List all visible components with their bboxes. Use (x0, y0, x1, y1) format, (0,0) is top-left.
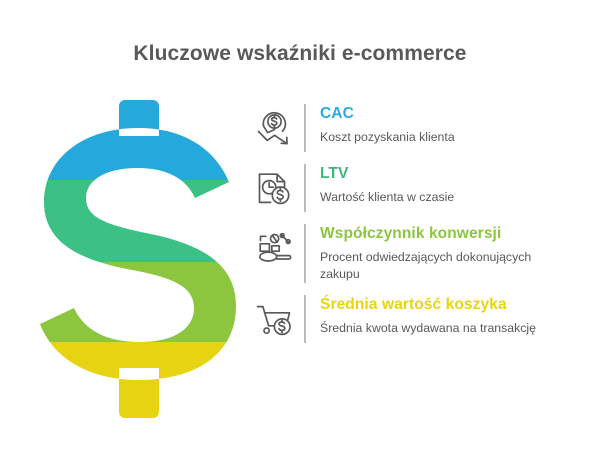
metric-item-cac[interactable]: CAC Koszt pozyskania klienta (252, 104, 582, 152)
metric-item-ltv[interactable]: LTV Wartość klienta w czasie (252, 164, 582, 212)
metric-description: Procent odwiedzających dokonujących zaku… (320, 249, 560, 283)
dollar-band-basket (36, 342, 242, 432)
metric-text: LTV Wartość klienta w czasie (320, 164, 582, 206)
metric-divider (304, 164, 306, 212)
metric-item-conversion-rate[interactable]: Współczynnik konwersji Procent odwiedzaj… (252, 224, 582, 283)
dollar-down-arrow-icon (252, 104, 298, 152)
metric-divider (304, 224, 306, 283)
dollar-band-ltv (36, 180, 242, 262)
metrics-list: CAC Koszt pozyskania klienta (252, 104, 582, 343)
metric-description: Średnia kwota wydawana na transakcję (320, 320, 560, 337)
dollar-bands (36, 92, 242, 432)
metric-label: CAC (320, 105, 582, 122)
metric-text: Średnia wartość koszyka Średnia kwota wy… (320, 295, 582, 337)
dollar-band-conversion (36, 262, 242, 342)
metric-text: Współczynnik konwersji Procent odwiedzaj… (320, 224, 582, 283)
cursor-percent-icon (252, 224, 298, 272)
metric-divider (304, 295, 306, 343)
infographic-root: Kluczowe wskaźniki e-commerce (0, 0, 600, 470)
metric-item-average-basket-value[interactable]: Średnia wartość koszyka Średnia kwota wy… (252, 295, 582, 343)
metric-text: CAC Koszt pozyskania klienta (320, 104, 582, 146)
page-title: Kluczowe wskaźniki e-commerce (0, 42, 600, 66)
dollar-sign-graphic (36, 92, 242, 432)
metric-description: Koszt pozyskania klienta (320, 129, 560, 146)
document-clock-dollar-icon (252, 164, 298, 212)
dollar-band-cac (36, 92, 242, 180)
metric-label: Współczynnik konwersji (320, 225, 582, 242)
metric-description: Wartość klienta w czasie (320, 189, 560, 206)
metric-label: Średnia wartość koszyka (320, 296, 582, 313)
metric-divider (304, 104, 306, 152)
metric-label: LTV (320, 165, 582, 182)
shopping-cart-dollar-icon (252, 295, 298, 343)
